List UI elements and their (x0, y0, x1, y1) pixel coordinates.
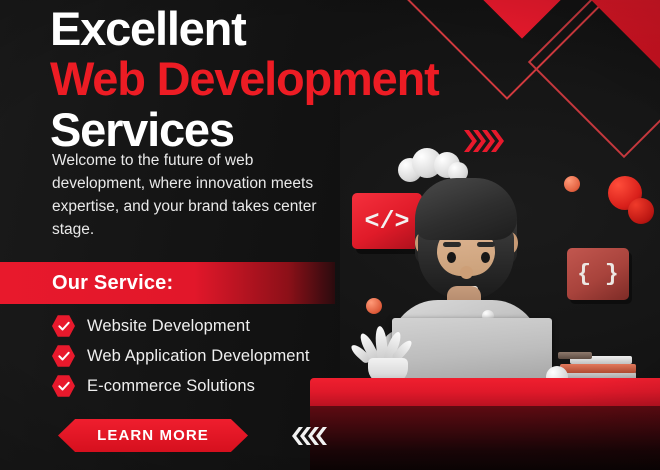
list-item-label: E-commerce Solutions (87, 377, 255, 396)
headline-block: Excellent Web Development Services (50, 4, 480, 155)
list-item: Website Development (52, 313, 310, 339)
headline-line-1: Excellent (50, 4, 480, 54)
check-icon (52, 375, 75, 398)
list-item-label: Website Development (87, 317, 250, 336)
headline-line-3: Services (50, 105, 480, 155)
list-item: Web Application Development (52, 343, 310, 369)
list-item-label: Web Application Development (87, 347, 310, 366)
our-service-bar: Our Service: (0, 262, 335, 304)
white-chevron-arrows-icon (292, 427, 324, 445)
service-list: Website Development Web Application Deve… (52, 313, 310, 403)
web-development-services-banner: </> { } (0, 0, 660, 470)
check-icon (52, 345, 75, 368)
our-service-title: Our Service: (52, 272, 173, 295)
list-item: E-commerce Solutions (52, 373, 310, 399)
check-icon (52, 315, 75, 338)
headline-line-2: Web Development (50, 54, 480, 104)
learn-more-label: LEARN MORE (97, 427, 209, 444)
learn-more-button[interactable]: LEARN MORE (58, 419, 248, 452)
subcopy-paragraph: Welcome to the future of web development… (52, 150, 344, 242)
